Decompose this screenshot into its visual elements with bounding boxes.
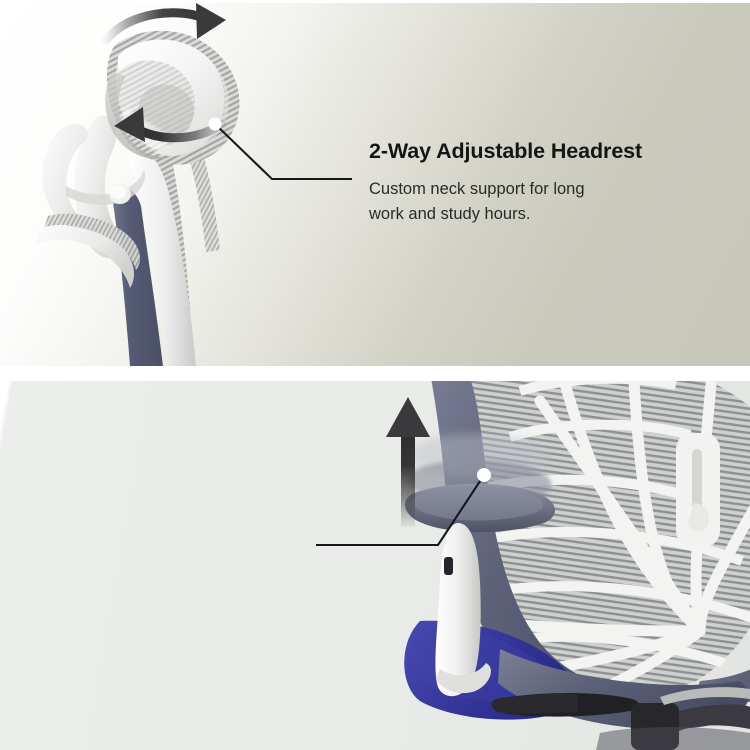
panel-armrest: 2D Adjustable Armrests Adjust height and… — [0, 381, 750, 750]
headrest-headline: 2-Way Adjustable Headrest — [369, 138, 729, 164]
panel-divider — [0, 366, 750, 381]
headrest-body-line-1: Custom neck support for long — [369, 177, 729, 202]
panel-headrest: 2-Way Adjustable Headrest Custom neck su… — [0, 0, 750, 366]
armrest-adjust-button[interactable] — [444, 557, 453, 575]
headrest-illustration — [0, 0, 360, 366]
infographic-canvas: 2-Way Adjustable Headrest Custom neck su… — [0, 0, 750, 750]
headrest-pivot-knob — [109, 184, 131, 204]
headrest-body-line-2: work and study hours. — [369, 202, 729, 227]
headrest-text-block: 2-Way Adjustable Headrest Custom neck su… — [369, 138, 729, 227]
lumbar-slider[interactable] — [676, 433, 720, 547]
chair-illustration — [0, 381, 750, 750]
